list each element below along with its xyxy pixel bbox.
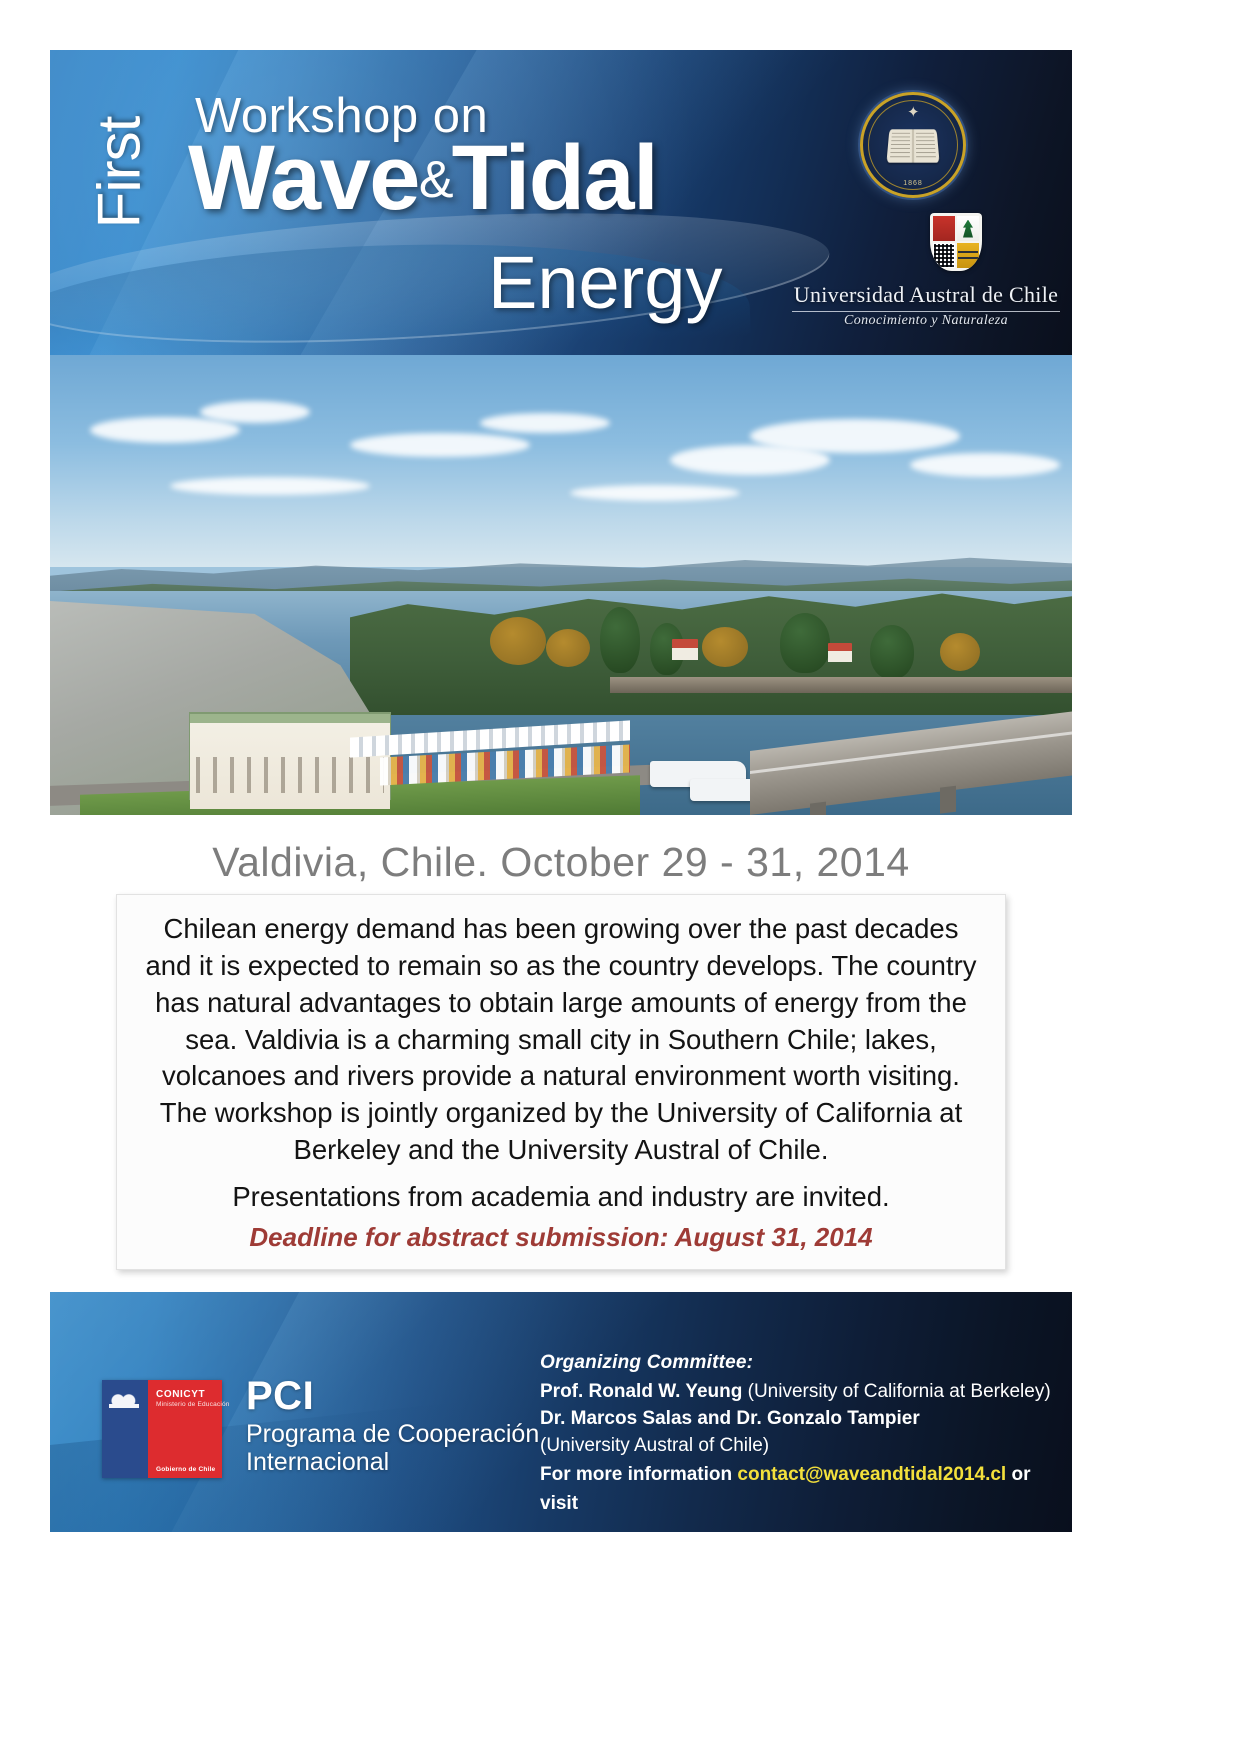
committee-member-2-name: Dr. Marcos Salas and Dr. Gonzalo Tampier — [540, 1406, 1060, 1433]
contact-line: For more information contact@waveandtida… — [540, 1461, 1060, 1518]
footer-bar: CONICYT Ministerio de Educación Gobierno… — [50, 1292, 1072, 1532]
seal-star-icon: ✦ — [907, 105, 920, 120]
photo-tree — [870, 625, 914, 679]
photo-far-quay — [610, 677, 1072, 693]
photo-bridge-pier — [940, 786, 956, 814]
uach-tagline: Conocimiento y Naturaleza — [792, 313, 1060, 329]
conicyt-logo-icon: CONICYT Ministerio de Educación Gobierno… — [102, 1380, 222, 1478]
photo-cloud — [750, 419, 960, 453]
event-dateline: Valdivia, Chile. October 29 - 31, 2014 — [50, 815, 1072, 894]
photo-tree — [940, 633, 980, 671]
organizing-committee-title: Organizing Committee: — [540, 1352, 1060, 1374]
photo-cloud — [200, 401, 310, 423]
uach-shield-icon — [930, 213, 982, 271]
conicyt-logo-blue-panel — [102, 1380, 148, 1478]
photo-cloud — [910, 453, 1060, 477]
header-banner: First Workshop on Wave&Tidal Energy ✦ 18… — [50, 50, 1072, 355]
photo-cloud — [570, 485, 740, 501]
title-wave-and-tidal: Wave&Tidal — [188, 132, 657, 224]
contact-email-link[interactable]: contact@waveandtidal2014.cl — [737, 1464, 1006, 1485]
photo-tree — [546, 629, 590, 667]
abstract-deadline: Deadline for abstract submission: August… — [139, 1220, 983, 1255]
uc-berkeley-seal-icon: ✦ 1868 — [860, 92, 966, 198]
uach-university-name: Universidad Austral de Chile — [792, 282, 1060, 308]
conicyt-ministry: Ministerio de Educación — [156, 1401, 230, 1408]
conicyt-government: Gobierno de Chile — [156, 1466, 215, 1473]
photo-tree — [780, 613, 830, 673]
website-link[interactable]: www.waveandtidal2014.cl — [540, 1530, 1060, 1531]
photo-tree — [600, 607, 640, 673]
conicyt-logo-red-panel: CONICYT Ministerio de Educación Gobierno… — [148, 1380, 222, 1478]
banner-title-group: First Workshop on Wave&Tidal Energy — [88, 70, 788, 340]
abstract-invite: Presentations from academia and industry… — [139, 1179, 983, 1216]
photo-tree — [702, 627, 748, 667]
uach-divider — [792, 311, 1060, 312]
title-first: First — [84, 117, 153, 229]
contact-prefix: For more information — [540, 1464, 732, 1485]
photo-house-roof — [828, 643, 852, 651]
photo-house-roof — [672, 639, 698, 648]
committee-member-2-affiliation: (University Austral of Chile) — [540, 1433, 1060, 1460]
organizing-committee-block: Organizing Committee: Prof. Ronald W. Ye… — [540, 1352, 1060, 1532]
committee-member-1-affiliation: (University of California at Berkeley) — [748, 1381, 1051, 1402]
pci-full-line-1: Programa de Cooperación — [246, 1420, 539, 1448]
photo-house-wall — [672, 648, 698, 660]
abstract-box: Chilean energy demand has been growing o… — [116, 894, 1006, 1270]
photo-cloud — [480, 413, 610, 433]
title-ampersand: & — [419, 151, 452, 209]
photo-cloud — [350, 433, 530, 457]
conicyt-name: CONICYT — [156, 1389, 205, 1400]
abstract-section: Chilean energy demand has been growing o… — [50, 894, 1072, 1270]
pci-full-line-2: Internacional — [246, 1448, 539, 1476]
chile-coat-of-arms-icon — [109, 1390, 139, 1414]
valdivia-photo — [50, 355, 1072, 815]
photo-cloud — [170, 477, 370, 495]
shield-quadrant-checker — [933, 243, 955, 268]
title-tidal: Tidal — [452, 127, 658, 229]
seal-year: 1868 — [863, 180, 963, 187]
pci-full-name: Programa de Cooperación Internacional — [246, 1420, 539, 1476]
committee-member-1: Prof. Ronald W. Yeung (University of Cal… — [540, 1379, 1060, 1406]
abstract-body: Chilean energy demand has been growing o… — [139, 911, 983, 1169]
photo-bridge-pier — [810, 802, 826, 815]
title-wave: Wave — [188, 127, 419, 229]
committee-member-1-name: Prof. Ronald W. Yeung — [540, 1381, 742, 1402]
seal-open-book-icon — [886, 129, 939, 162]
photo-tree — [490, 617, 546, 665]
pci-logo-block: PCI Programa de Cooperación Internaciona… — [246, 1376, 539, 1476]
pci-abbreviation: PCI — [246, 1376, 539, 1416]
photo-house-wall — [828, 651, 852, 662]
title-energy: Energy — [488, 240, 722, 325]
shield-quadrant-gold — [957, 243, 979, 268]
photo-cloud — [90, 417, 240, 443]
shield-quadrant-red — [933, 216, 955, 241]
poster: First Workshop on Wave&Tidal Energy ✦ 18… — [50, 50, 1072, 1525]
shield-quadrant-tree — [957, 216, 979, 241]
